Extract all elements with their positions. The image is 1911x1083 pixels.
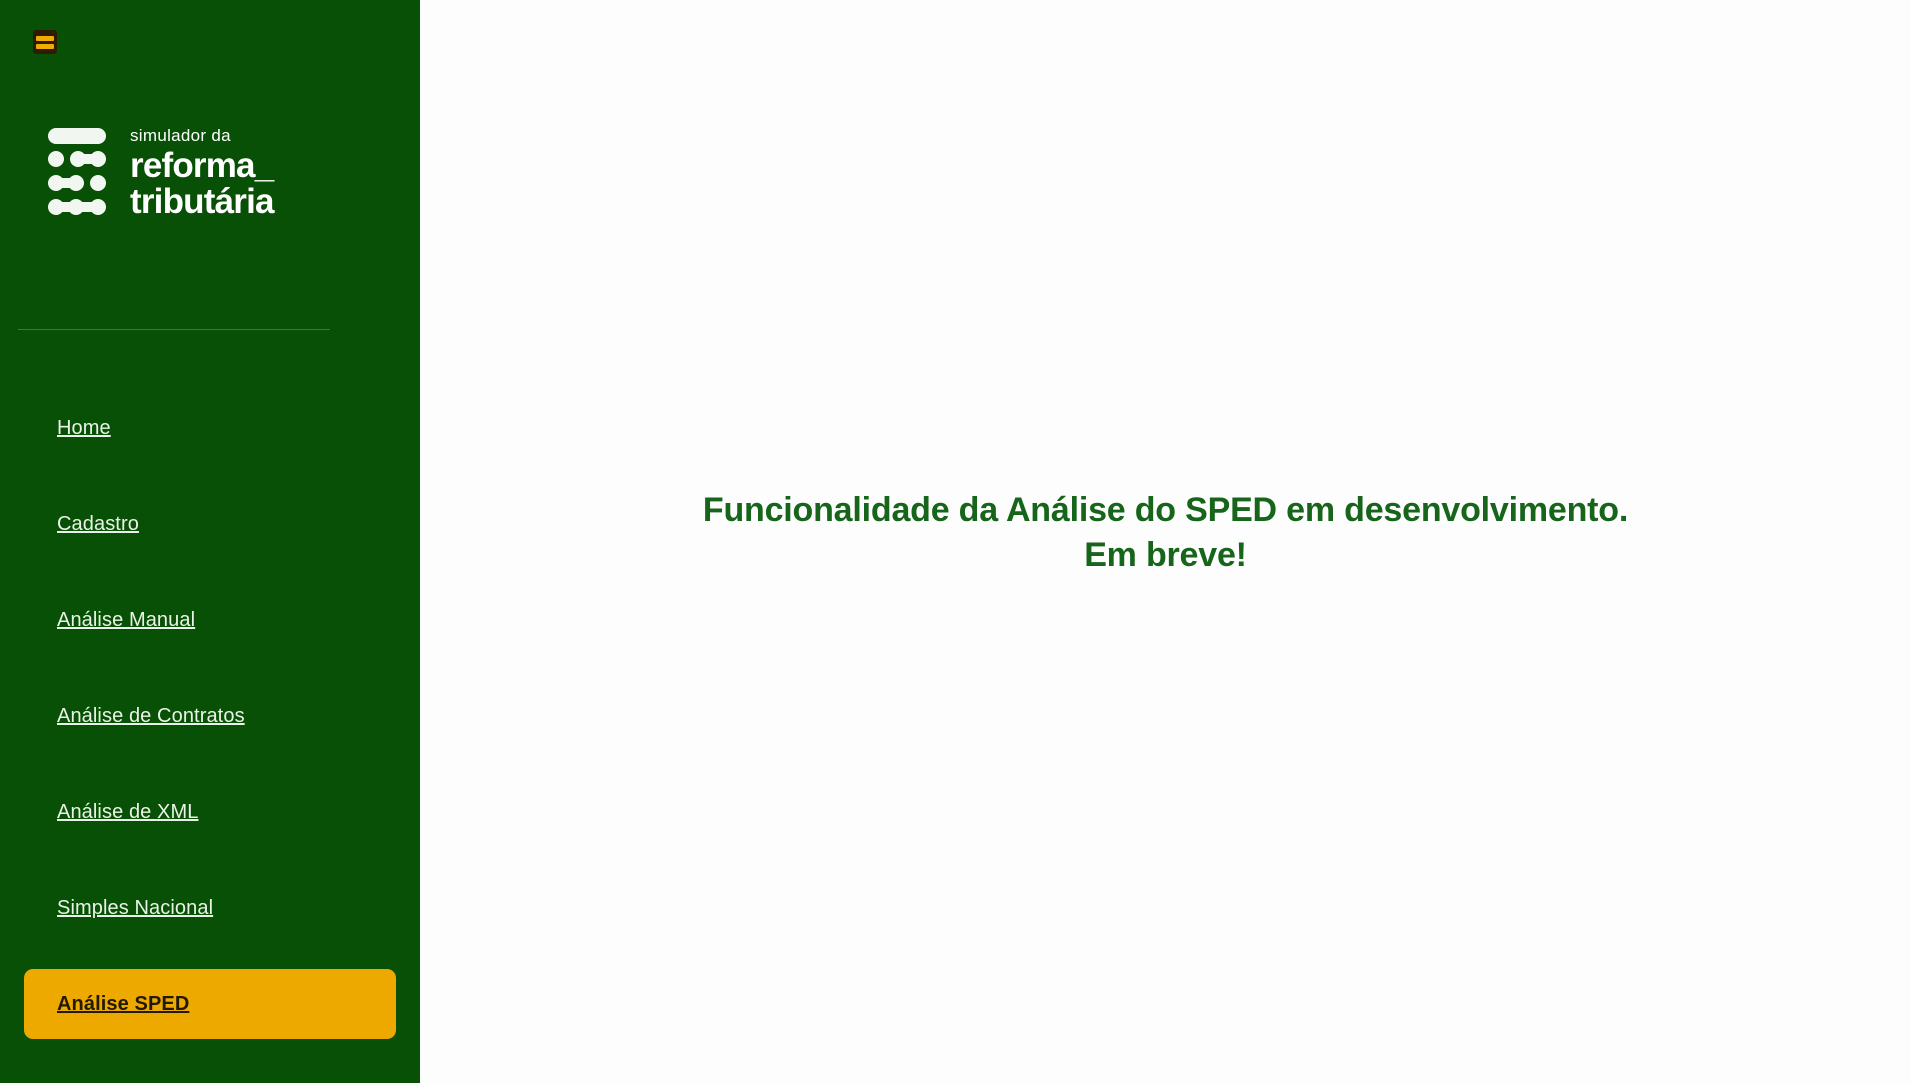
sidebar-item-simples-nacional[interactable]: Simples Nacional: [0, 860, 420, 956]
headline-line-1: Funcionalidade da Análise do SPED em des…: [703, 491, 1628, 529]
hamburger-bar-2: [36, 44, 54, 49]
sidebar-item-analise-de-contratos[interactable]: Análise de Contratos: [0, 668, 420, 764]
reforma-tributaria-logo-mark: [48, 126, 112, 218]
app-root: simulador da reforma_ tributária Home Ca…: [0, 0, 1911, 1083]
logo-line-reforma: reforma_: [130, 148, 274, 184]
sidebar: simulador da reforma_ tributária Home Ca…: [0, 0, 420, 1083]
sidebar-item-analise-manual[interactable]: Análise Manual: [0, 572, 420, 668]
logo-line-simulador: simulador da: [130, 127, 274, 144]
sidebar-nav: Home Cadastro Análise Manual Análise de …: [0, 380, 420, 1052]
sidebar-item-cadastro[interactable]: Cadastro: [0, 476, 420, 572]
headline-line-2: Em breve!: [540, 533, 1791, 578]
sidebar-item-analise-sped-wrapper: Análise SPED: [0, 956, 420, 1052]
sidebar-item-analise-de-xml[interactable]: Análise de XML: [0, 764, 420, 860]
sidebar-item-analise-sped[interactable]: Análise SPED: [24, 969, 396, 1039]
page-headline: Funcionalidade da Análise do SPED em des…: [420, 488, 1911, 578]
sidebar-divider: [18, 329, 330, 330]
logo-wordmark: simulador da reforma_ tributária: [130, 126, 274, 219]
hamburger-bar-1: [36, 36, 54, 41]
app-logo[interactable]: simulador da reforma_ tributária: [48, 126, 358, 218]
logo-line-tributaria: tributária: [130, 184, 274, 220]
sidebar-item-home[interactable]: Home: [0, 380, 420, 476]
main-content: Funcionalidade da Análise do SPED em des…: [420, 0, 1911, 1083]
hamburger-menu-icon[interactable]: [33, 30, 57, 54]
